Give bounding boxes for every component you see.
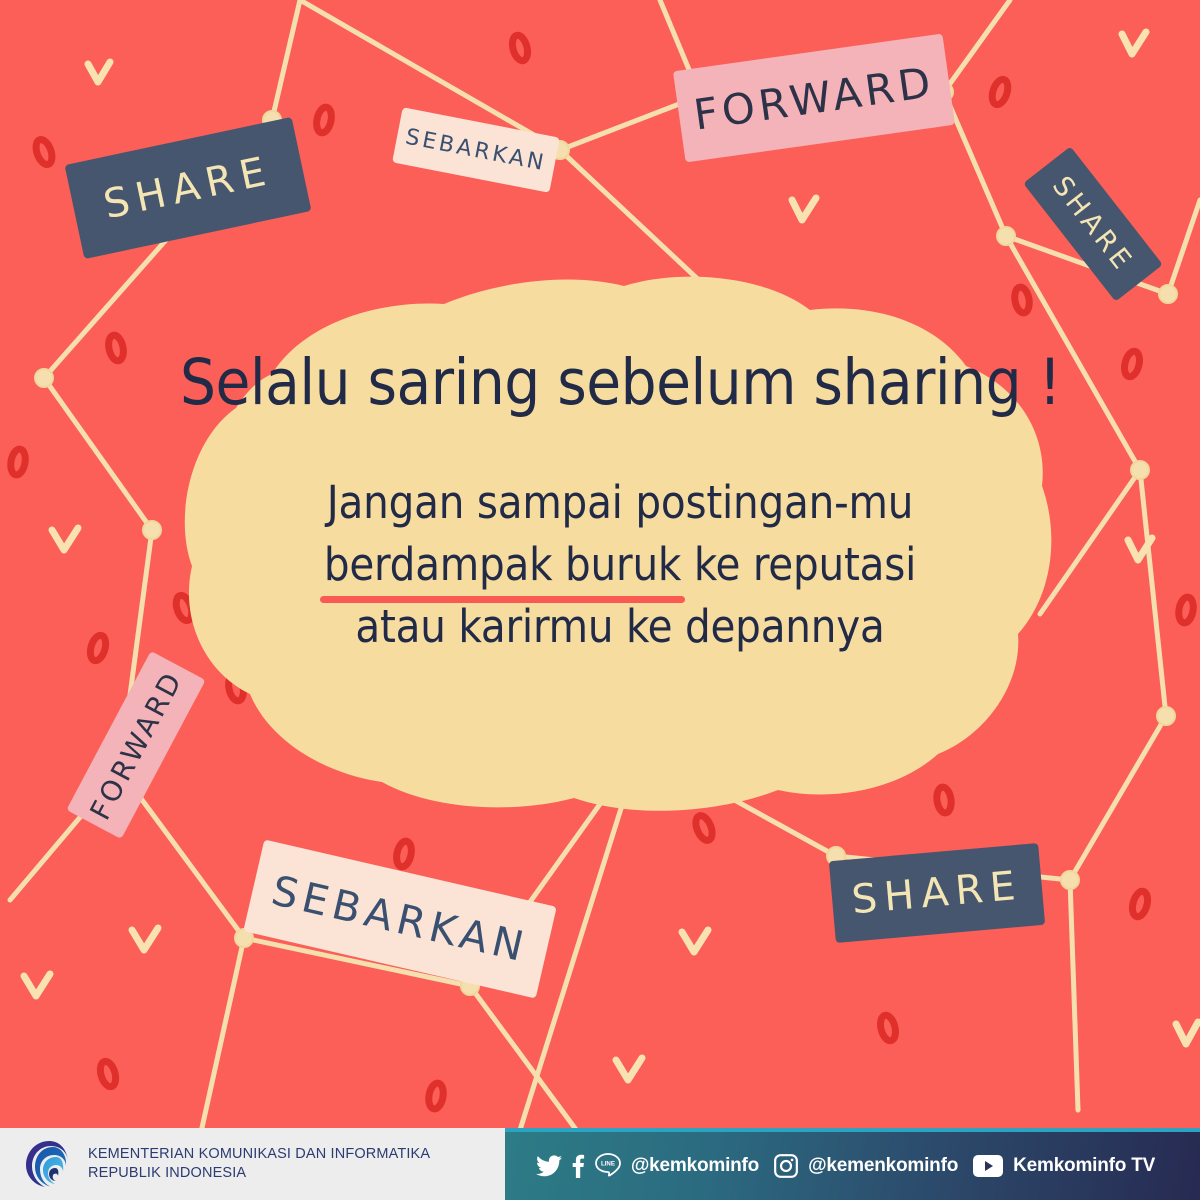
social-handle-kemenkominfo[interactable]: @kemenkominfo xyxy=(808,1155,958,1177)
line-icon[interactable]: LINE xyxy=(594,1152,622,1180)
ministry-name-line-1: KEMENTERIAN KOMUNIKASI DAN INFORMATIKA xyxy=(88,1145,430,1164)
social-handle-kemkominfo[interactable]: @kemkominfo xyxy=(631,1155,759,1177)
social-group-twitter-facebook-line: LINE @kemkominfo xyxy=(536,1152,773,1180)
social-media-bar: LINE @kemkominfo @kemenkominfo Kemkominf… xyxy=(505,1128,1200,1200)
instagram-icon[interactable] xyxy=(773,1153,799,1179)
social-group-youtube: Kemkominfo TV xyxy=(972,1154,1169,1178)
highlighted-phrase: berdampak buruk xyxy=(324,534,681,596)
facebook-icon[interactable] xyxy=(571,1154,585,1178)
tag-sebarkan-bottom: SEBARKAN xyxy=(243,839,556,998)
social-group-instagram: @kemenkominfo xyxy=(773,1153,972,1179)
youtube-icon[interactable] xyxy=(972,1154,1004,1178)
svg-text:LINE: LINE xyxy=(601,1161,615,1168)
body-copy: Jangan sampai postingan-mu berdampak bur… xyxy=(180,472,1060,658)
tag-sebarkan-top: SEBARKAN xyxy=(392,107,560,193)
kominfo-wave-logo-icon xyxy=(24,1139,74,1189)
poster-canvas: Selalu saring sebelum sharing ! Jangan s… xyxy=(0,0,1200,1200)
ministry-name: KEMENTERIAN KOMUNIKASI DAN INFORMATIKA R… xyxy=(88,1145,430,1182)
footer-bar: KEMENTERIAN KOMUNIKASI DAN INFORMATIKA R… xyxy=(0,1128,1200,1200)
body-line-3: atau karirmu ke depannya xyxy=(180,596,1060,658)
social-handle-kemkominfo-tv[interactable]: Kemkominfo TV xyxy=(1013,1155,1155,1177)
page-title: Selalu saring sebelum sharing ! xyxy=(180,350,1060,416)
body-line-2: berdampak buruk ke reputasi xyxy=(180,534,1060,596)
ministry-name-line-2: REPUBLIK INDONESIA xyxy=(88,1164,430,1183)
body-line-1: Jangan sampai postingan-mu xyxy=(180,472,1060,534)
twitter-icon[interactable] xyxy=(536,1155,562,1177)
tag-forward-top: FORWARD xyxy=(673,34,955,163)
ministry-branding: KEMENTERIAN KOMUNIKASI DAN INFORMATIKA R… xyxy=(0,1128,505,1200)
main-copy: Selalu saring sebelum sharing ! Jangan s… xyxy=(180,350,1060,658)
tag-share-bottom-right: SHARE xyxy=(829,843,1045,943)
body-line-2-rest: ke reputasi xyxy=(681,538,916,591)
tag-share-top-left: SHARE xyxy=(65,117,312,259)
